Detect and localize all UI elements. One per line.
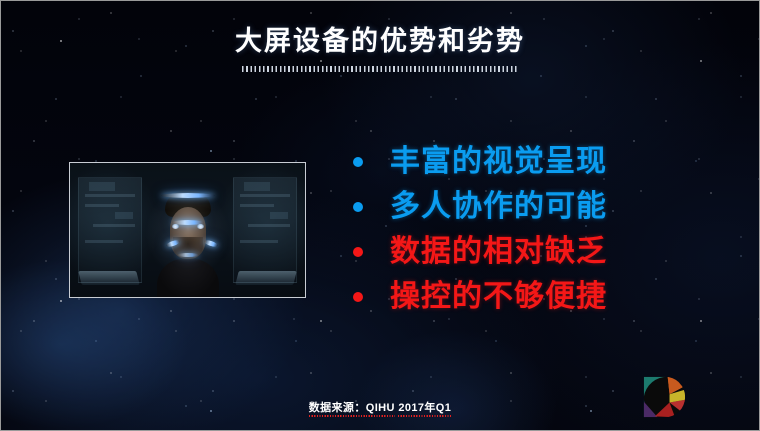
bullet-item: 丰富的视觉呈现 (353, 139, 753, 184)
bullet-item: 数据的相对缺乏 (353, 229, 753, 274)
lab-device-left (78, 271, 139, 285)
title-underline-rule (242, 66, 518, 72)
photo-image (70, 163, 305, 297)
photo-frame (69, 162, 306, 298)
bullet-item: 多人协作的可能 (353, 184, 753, 229)
bullet-label: 操控的不够便捷 (390, 282, 607, 312)
source-period: 2017年Q1 (398, 402, 451, 415)
hud-arc-chin (177, 253, 199, 257)
slide-title: 大屏设备的优势和劣势 (1, 27, 759, 57)
bullet-item: 操控的不够便捷 (353, 274, 753, 319)
bullet-dot-icon (353, 202, 363, 212)
bullet-list: 丰富的视觉呈现 多人协作的可能 数据的相对缺乏 操控的不够便捷 (353, 139, 753, 319)
bullet-dot-icon (353, 292, 363, 302)
lab-panel-left (78, 177, 142, 283)
bullet-label: 数据的相对缺乏 (390, 237, 607, 267)
title-block: 大屏设备的优势和劣势 (1, 27, 759, 72)
bullet-dot-icon (353, 157, 363, 167)
bullet-label: 多人协作的可能 (390, 192, 607, 222)
source-name: QIHU (366, 402, 395, 415)
lab-panel-right (233, 177, 297, 283)
slide-canvas: 大屏设备的优势和劣势 (0, 0, 760, 431)
hud-arc-top (161, 193, 215, 198)
d-mark-logo (641, 374, 687, 420)
bullet-label: 丰富的视觉呈现 (390, 147, 607, 177)
bullet-dot-icon (353, 247, 363, 257)
source-label: 数据来源： (309, 402, 366, 415)
lab-device-right (235, 271, 296, 285)
hud-arc-middle (172, 220, 204, 225)
